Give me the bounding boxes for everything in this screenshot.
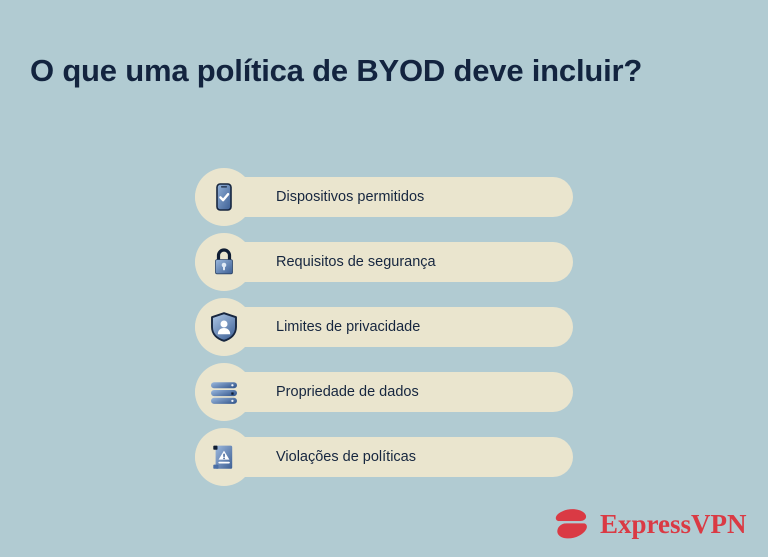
list-item-icon-badge	[195, 168, 253, 226]
server-stack-icon	[207, 375, 241, 409]
scroll-warning-icon	[207, 440, 241, 474]
byod-policy-infographic: O que uma política de BYOD deve incluir?…	[0, 0, 768, 557]
policy-item-list: Dispositivos permitidos	[195, 168, 575, 493]
list-item-icon-badge	[195, 363, 253, 421]
list-item-label: Dispositivos permitidos	[276, 177, 424, 217]
expressvpn-logo: ExpressVPN	[553, 503, 723, 545]
list-item[interactable]: Propriedade de dados	[195, 363, 575, 421]
list-item[interactable]: Limites de privacidade	[195, 298, 575, 356]
list-item-label: Limites de privacidade	[276, 307, 420, 347]
list-item-label: Violações de políticas	[276, 437, 416, 477]
expressvpn-wordmark: ExpressVPN	[600, 511, 747, 538]
smartphone-check-icon	[207, 180, 241, 214]
list-item[interactable]: Requisitos de segurança	[195, 233, 575, 291]
list-item-label: Propriedade de dados	[276, 372, 419, 412]
list-item[interactable]: Violações de políticas	[195, 428, 575, 486]
padlock-icon	[207, 245, 241, 279]
shield-person-icon	[207, 310, 241, 344]
list-item-icon-badge	[195, 428, 253, 486]
list-item-label: Requisitos de segurança	[276, 242, 436, 282]
list-item-icon-badge	[195, 233, 253, 291]
list-item[interactable]: Dispositivos permitidos	[195, 168, 575, 226]
page-title: O que uma política de BYOD deve incluir?	[30, 52, 740, 89]
list-item-icon-badge	[195, 298, 253, 356]
expressvpn-e-logo-icon	[553, 507, 591, 541]
